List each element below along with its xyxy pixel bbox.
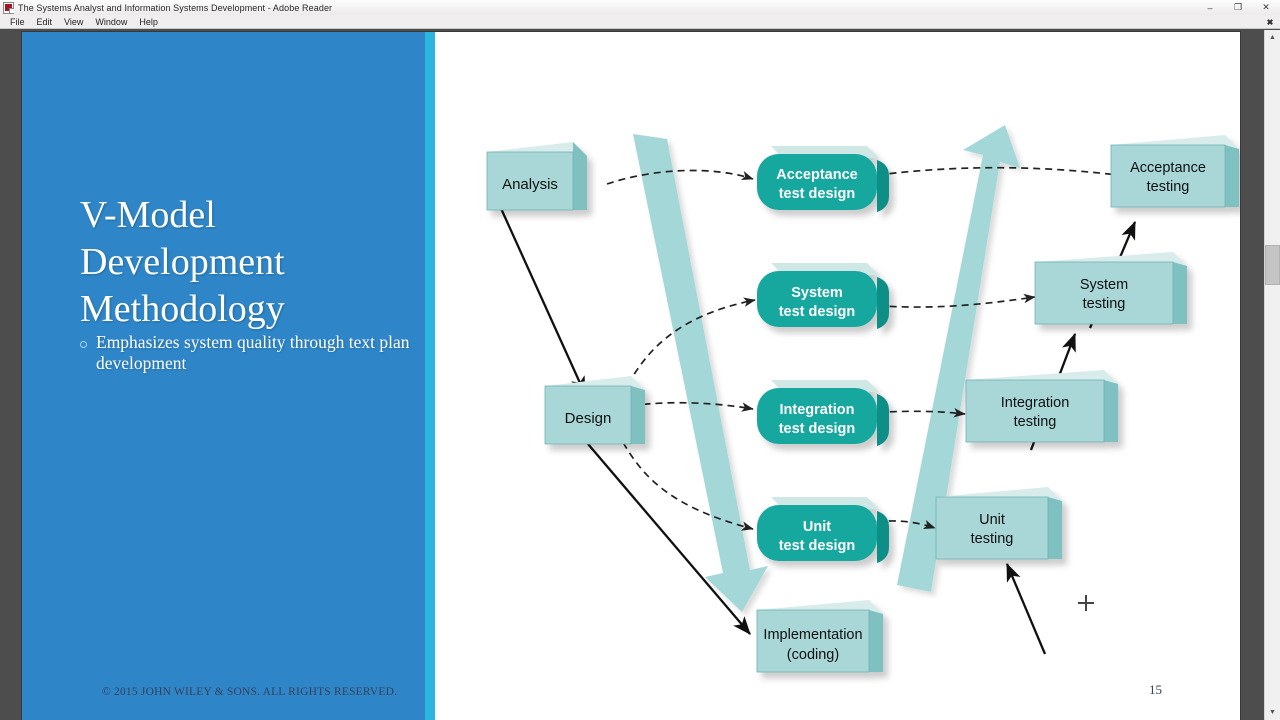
node-system-testing-label-1: System — [1080, 277, 1128, 293]
node-analysis-label: Analysis — [502, 176, 558, 193]
descending-band — [633, 134, 768, 612]
footer-copyright: © 2015 JOHN WILEY & SONS. ALL RIGHTS RES… — [102, 686, 397, 698]
node-design-label: Design — [565, 410, 612, 427]
node-unit-test-design-label-1: Unit — [803, 519, 831, 535]
pdf-page: V-Model Development Methodology Emphasiz… — [22, 32, 1240, 720]
toolbar-close-icon[interactable]: ✖ — [1264, 15, 1276, 29]
node-integration-test-design-label-1: Integration — [780, 402, 855, 418]
node-implementation-label-1: Implementation — [763, 627, 862, 643]
node-integration-test-design-label-2: test design — [779, 421, 856, 437]
node-system-test-design-label-2: test design — [779, 304, 856, 320]
slide-left-panel — [22, 32, 425, 720]
bullet-item: Emphasizes system quality through text p… — [80, 332, 410, 374]
bullet-item-label: Emphasizes system quality through text p… — [96, 332, 410, 374]
document-viewport[interactable]: V-Model Development Methodology Emphasiz… — [0, 30, 1280, 720]
page-title: V-Model Development Methodology — [80, 192, 410, 333]
hollow-circle-icon — [80, 341, 87, 348]
node-unit-testing-label-1: Unit — [979, 512, 1005, 528]
menu-item-window[interactable]: Window — [89, 15, 133, 29]
vertical-scrollbar[interactable]: ▲ ▼ — [1264, 30, 1280, 720]
window-title: The Systems Analyst and Information Syst… — [18, 3, 332, 13]
node-integration-testing-label-1: Integration — [1001, 395, 1070, 411]
window-controls: – ❐ ✕ — [1196, 0, 1280, 15]
scroll-down-arrow-icon[interactable]: ▼ — [1265, 705, 1280, 720]
node-unit-test-design-label-2: test design — [779, 538, 856, 554]
node-acceptance-test-design-label-2: test design — [779, 186, 856, 202]
close-button[interactable]: ✕ — [1252, 0, 1280, 15]
menu-item-help[interactable]: Help — [133, 15, 164, 29]
scrollbar-thumb[interactable] — [1265, 245, 1280, 285]
v-model-diagram: Analysis Design — [435, 32, 1240, 720]
node-acceptance-test-design-label-1: Acceptance — [776, 167, 857, 183]
menu-item-view[interactable]: View — [58, 15, 89, 29]
node-implementation-label-2: (coding) — [787, 647, 839, 663]
adobe-reader-window: The Systems Analyst and Information Syst… — [0, 0, 1280, 720]
title-bar: The Systems Analyst and Information Syst… — [0, 0, 1280, 16]
slide-accent-stripe — [425, 32, 435, 720]
node-acceptance-testing-label-2: testing — [1147, 179, 1190, 195]
node-system-test-design-label-1: System — [791, 285, 843, 301]
menu-item-file[interactable]: File — [4, 15, 31, 29]
minimize-button[interactable]: – — [1196, 0, 1224, 15]
footer-page-number: 15 — [1149, 682, 1162, 698]
pdf-document-icon — [3, 2, 14, 13]
menu-bar: File Edit View Window Help — [0, 15, 1280, 29]
node-acceptance-testing-label-1: Acceptance — [1130, 160, 1206, 176]
restore-button[interactable]: ❐ — [1224, 0, 1252, 15]
scroll-up-arrow-icon[interactable]: ▲ — [1265, 30, 1280, 45]
node-unit-testing-label-2: testing — [971, 531, 1014, 547]
node-system-testing-label-2: testing — [1083, 296, 1126, 312]
node-integration-testing-label-2: testing — [1014, 414, 1057, 430]
menu-item-edit[interactable]: Edit — [31, 15, 59, 29]
